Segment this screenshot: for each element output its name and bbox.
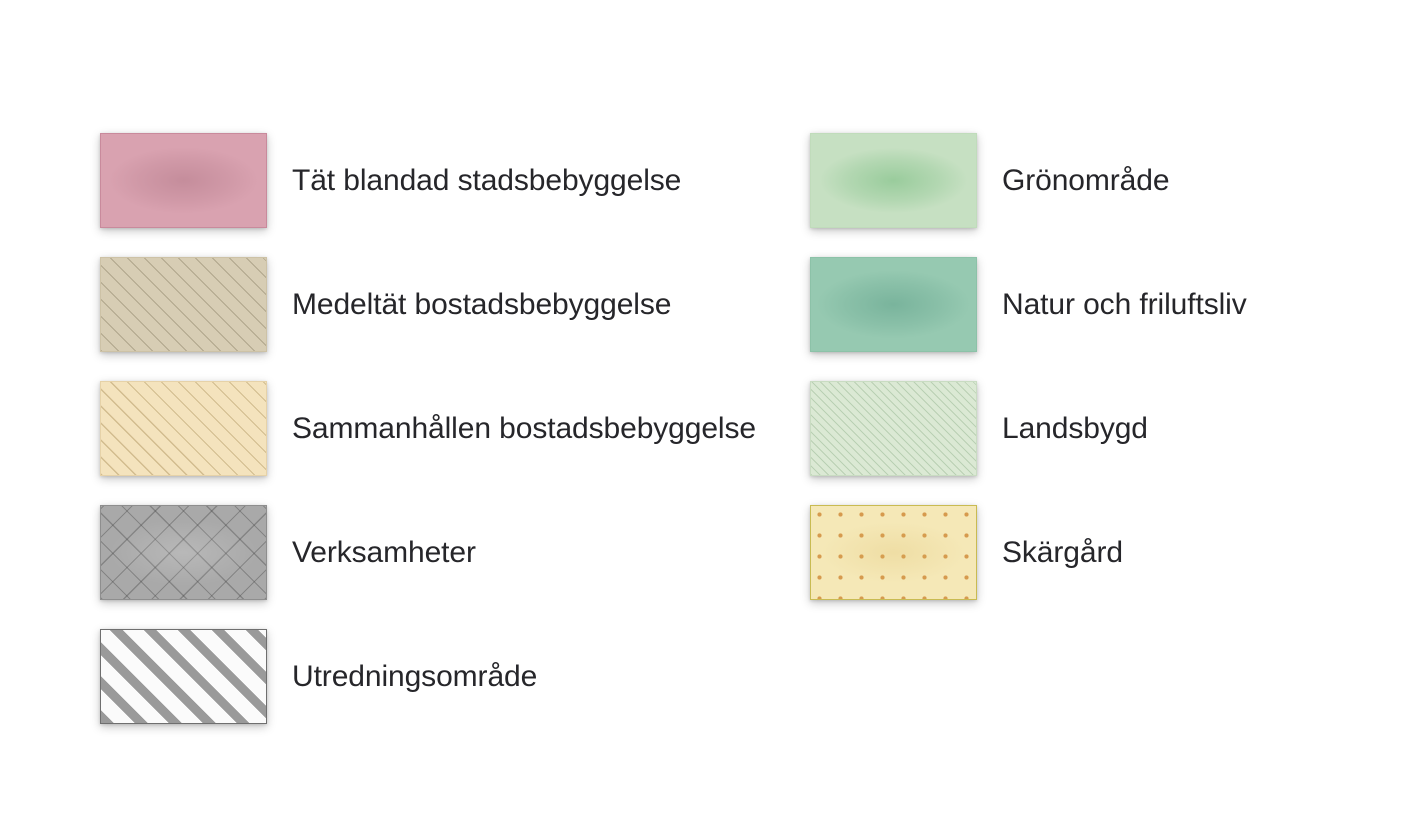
legend-item[interactable]: Sammanhållen bostadsbebyggelse bbox=[100, 381, 756, 476]
legend-column-right: Grönområde Natur och friluftsliv Landsby… bbox=[810, 133, 1247, 629]
legend-label: Skärgård bbox=[1002, 536, 1123, 569]
legend-label: Grönområde bbox=[1002, 164, 1169, 197]
legend-label: Tät blandad stadsbebyggelse bbox=[292, 164, 681, 197]
legend-item[interactable]: Grönområde bbox=[810, 133, 1247, 228]
legend-swatch-gronomrade bbox=[810, 133, 977, 228]
legend-swatch-verksamheter bbox=[100, 505, 267, 600]
legend-item[interactable]: Medeltät bostadsbebyggelse bbox=[100, 257, 756, 352]
legend-item[interactable]: Utredningsområde bbox=[100, 629, 756, 724]
legend-swatch-utredningsomrade bbox=[100, 629, 267, 724]
legend-swatch-sammanhallen-bostadsbebyggelse bbox=[100, 381, 267, 476]
legend-label: Landsbygd bbox=[1002, 412, 1148, 445]
legend-label: Utredningsområde bbox=[292, 660, 537, 693]
legend-swatch-skargard bbox=[810, 505, 977, 600]
legend-label: Natur och friluftsliv bbox=[1002, 288, 1247, 321]
swatch-vignette bbox=[101, 506, 266, 599]
legend-item[interactable]: Verksamheter bbox=[100, 505, 756, 600]
legend-label: Verksamheter bbox=[292, 536, 476, 569]
legend-item[interactable]: Tät blandad stadsbebyggelse bbox=[100, 133, 756, 228]
legend-label: Medeltät bostadsbebyggelse bbox=[292, 288, 671, 321]
legend-column-left: Tät blandad stadsbebyggelse Medeltät bos… bbox=[100, 133, 756, 753]
legend-swatch-tat-blandad-stadsbebyggelse bbox=[100, 133, 267, 228]
swatch-vignette bbox=[811, 258, 976, 351]
legend-swatch-natur-och-friluftsliv bbox=[810, 257, 977, 352]
legend-item[interactable]: Skärgård bbox=[810, 505, 1247, 600]
legend-swatch-medeltat-bostadsbebyggelse bbox=[100, 257, 267, 352]
map-legend: Tät blandad stadsbebyggelse Medeltät bos… bbox=[0, 0, 1417, 826]
legend-swatch-landsbygd bbox=[810, 381, 977, 476]
swatch-vignette bbox=[811, 506, 976, 599]
legend-label: Sammanhållen bostadsbebyggelse bbox=[292, 412, 756, 445]
legend-item[interactable]: Landsbygd bbox=[810, 381, 1247, 476]
swatch-vignette bbox=[811, 134, 976, 227]
swatch-vignette bbox=[101, 134, 266, 227]
legend-item[interactable]: Natur och friluftsliv bbox=[810, 257, 1247, 352]
